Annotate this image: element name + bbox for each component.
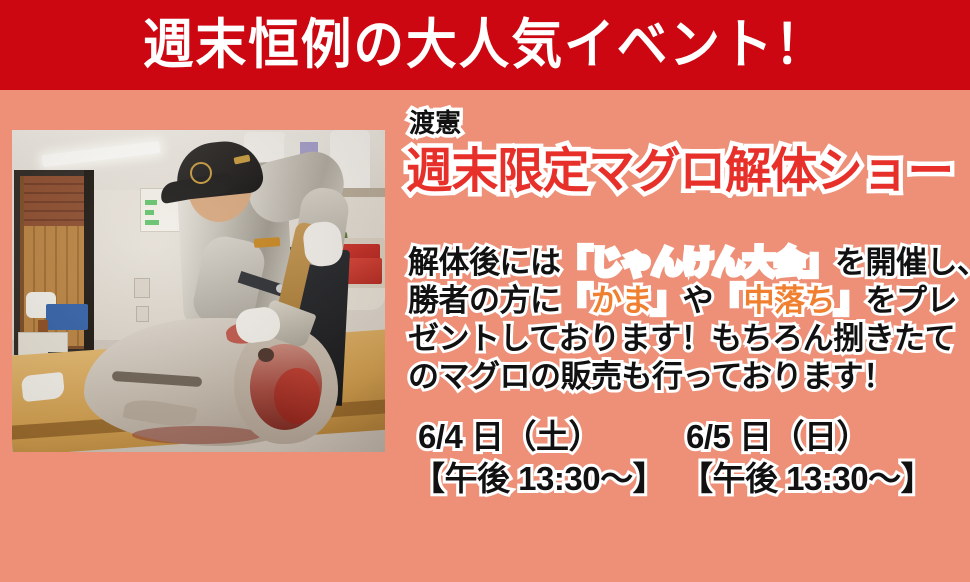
content-column: 渡憲 週末限定マグロ解体ショー 解体後には「じゃんけん大会」を開催し、勝者の方に… — [406, 110, 962, 520]
body-text: ゼントしております！もちろん捌きたて — [408, 321, 955, 356]
body-line: のマグロの販売も行っております！ — [408, 358, 964, 396]
brick-wall — [24, 176, 86, 228]
control-indicator — [145, 210, 154, 215]
body-text: 「 — [561, 283, 592, 318]
brand-label: 渡憲 — [409, 110, 461, 136]
schedule-entry: 6/5 日（日） 【午後 13:30〜】 — [680, 416, 933, 500]
body-text: や — [683, 283, 714, 318]
schedule-time: 【午後 13:30〜】 — [680, 458, 933, 500]
body-text: のマグロの販売も行っております！ — [408, 359, 894, 394]
schedule-entry: 6/4 日（土） 【午後 13:30〜】 — [412, 416, 665, 500]
body-line: ゼントしております！もちろん捌きたて — [408, 320, 964, 358]
tuna-belly-cut — [132, 426, 262, 444]
header-banner: 週末恒例の大人気イベント！ — [0, 0, 970, 90]
tuna-red-flesh — [274, 368, 320, 424]
control-indicator — [145, 220, 159, 225]
wall-switch — [136, 306, 149, 322]
cap-logo-icon — [190, 162, 212, 184]
header-headline: 週末恒例の大人気イベント！ — [143, 18, 827, 72]
highlight-term: 中落ち — [744, 283, 836, 318]
jacket-logo — [254, 237, 281, 248]
body-text: をプレ — [866, 283, 958, 318]
highlight-term: かま — [591, 283, 652, 318]
page-title: 週末限定マグロ解体ショー — [406, 146, 953, 199]
schedule-date: 6/4 日（土） — [412, 416, 665, 458]
body-text: を開催し、 — [835, 245, 970, 280]
worker-right-glove — [302, 220, 344, 268]
promo-flyer: 週末恒例の大人気イベント！ — [0, 0, 970, 582]
body-text: 解体後には — [408, 245, 561, 280]
schedule-date: 6/5 日（日） — [680, 416, 933, 458]
body-line: 解体後には「じゃんけん大会」を開催し、 — [408, 244, 964, 282]
tuna-eye — [258, 348, 274, 362]
body-text: 「 — [713, 283, 744, 318]
schedule-time: 【午後 13:30〜】 — [412, 458, 665, 500]
body-text: 」 — [652, 283, 683, 318]
tuna-cutting-photo — [12, 130, 385, 452]
body-copy: 解体後には「じゃんけん大会」を開催し、勝者の方に「かま」や「中落ち」をプレゼント… — [408, 244, 964, 396]
blue-bin — [46, 304, 88, 330]
body-line: 勝者の方に「かま」や「中落ち」をプレ — [408, 282, 964, 320]
body-text: 勝者の方に — [408, 283, 561, 318]
body-text: 「じゃんけん大会」 — [561, 245, 836, 280]
body-text: 」 — [835, 283, 866, 318]
control-indicator — [145, 200, 157, 205]
wall-switch — [134, 278, 150, 298]
